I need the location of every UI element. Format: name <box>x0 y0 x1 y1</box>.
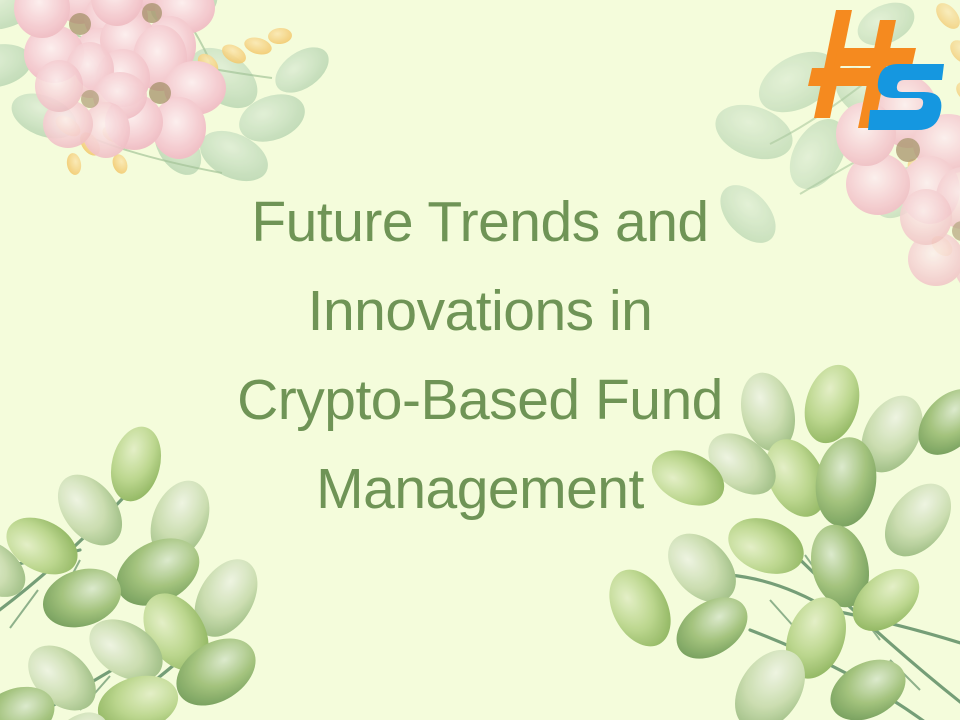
title-line-1: Future Trends and <box>120 178 840 267</box>
title-slide: Future Trends and Innovations in Crypto-… <box>0 0 960 720</box>
title-line-4: Management <box>120 445 840 534</box>
hs-logo-icon <box>806 6 952 132</box>
title-line-2: Innovations in <box>120 267 840 356</box>
slide-title: Future Trends and Innovations in Crypto-… <box>120 178 840 534</box>
title-line-3: Crypto-Based Fund <box>120 356 840 445</box>
